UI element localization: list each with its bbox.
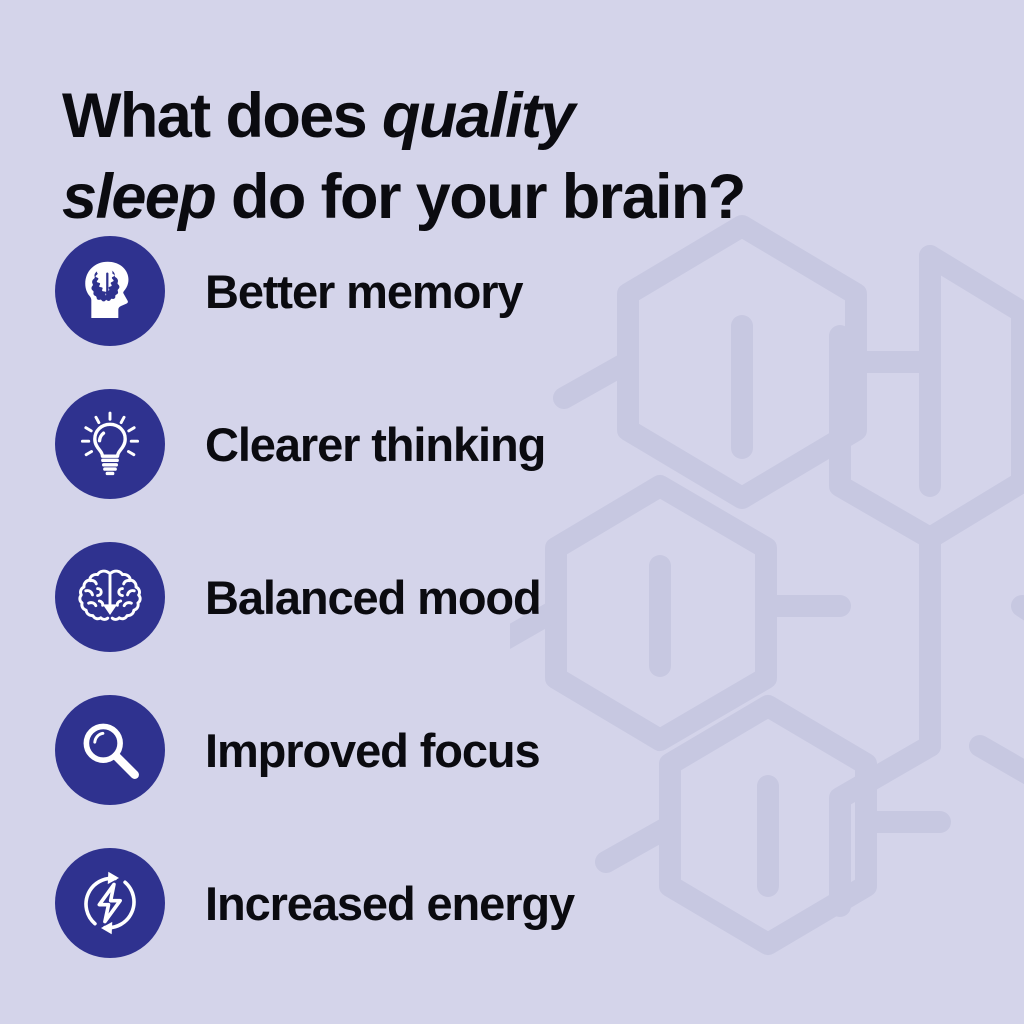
page-title: What does qualitysleep do for your brain…: [62, 76, 942, 237]
benefit-label: Improved focus: [205, 723, 540, 778]
lightbulb-icon: [55, 389, 165, 499]
benefit-label: Better memory: [205, 264, 522, 319]
benefit-label: Increased energy: [205, 876, 574, 931]
headline-line1-prefix: What does: [62, 81, 382, 151]
benefit-label: Balanced mood: [205, 570, 541, 625]
list-item: Clearer thinking: [55, 389, 955, 499]
list-item: Increased energy: [55, 848, 955, 958]
energy-refresh-bolt-icon: [55, 848, 165, 958]
benefit-list: Better memory: [55, 236, 955, 958]
benefit-label: Clearer thinking: [205, 417, 545, 472]
list-item: Balanced mood: [55, 542, 955, 652]
list-item: Improved focus: [55, 695, 955, 805]
list-item: Better memory: [55, 236, 955, 346]
infographic-poster: What does qualitysleep do for your brain…: [0, 0, 1024, 1024]
headline-line1-emphasis: quality: [382, 81, 574, 151]
magnifying-glass-icon: [55, 695, 165, 805]
head-with-brain-icon: [55, 236, 165, 346]
brain-hemispheres-icon: [55, 542, 165, 652]
headline-line2-emphasis: sleep: [62, 162, 215, 232]
headline-line2-suffix: do for your brain?: [215, 162, 745, 232]
